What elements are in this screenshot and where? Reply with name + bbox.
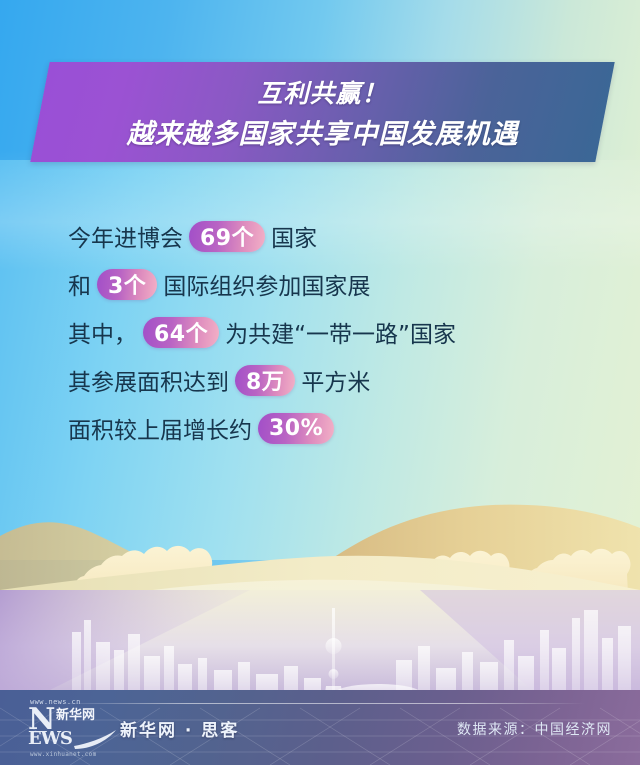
stat-line-5-prefix: 面积较上届增长约 [68,411,252,445]
stat-line-3-prefix: 其中， [68,315,137,349]
stat-line-2-prefix: 和 [68,267,91,301]
footer-bar: www.news.cn N EWS 新华网 www.xinhuanet.com … [0,690,640,765]
stat-pill-countries: 69个 [189,221,265,252]
stat-pill-belt-and-road: 64个 [143,317,219,348]
statistics-text-block: 今年进博会 69个 国家 和 3个 国际组织参加国家展 其中， 64个 为共建“… [68,212,588,452]
stat-line-3-suffix: 为共建“一带一路”国家 [225,315,456,349]
stat-line-3: 其中， 64个 为共建“一带一路”国家 [68,308,588,356]
data-source-label: 数据来源：中国经济网 [457,719,612,739]
xinhua-logo[interactable]: www.news.cn N EWS 新华网 www.xinhuanet.com [28,698,116,758]
logo-url-bottom: www.xinhuanet.com [30,751,97,758]
title-line-2: 越来越多国家共享中国发展机遇 [127,112,519,151]
stat-line-1: 今年进博会 69个 国家 [68,212,588,260]
stat-line-2-suffix: 国际组织参加国家展 [163,267,370,301]
stat-line-4: 其参展面积达到 8万 平方米 [68,356,588,404]
logo-chinese-text: 新华网 [56,709,98,722]
title-banner: 互利共赢！ 越来越多国家共享中国发展机遇 [30,62,614,162]
footer-divider-line [55,703,585,704]
stat-line-1-suffix: 国家 [271,219,317,253]
stat-line-2: 和 3个 国际组织参加国家展 [68,260,588,308]
stat-line-4-suffix: 平方米 [301,363,370,397]
footer-brand-label: 新华网 · 思客 [120,716,239,741]
stat-pill-organizations: 3个 [97,269,157,300]
stat-pill-growth: 30% [258,413,334,444]
stat-pill-area: 8万 [235,365,295,396]
title-line-1: 互利共赢！ [257,74,387,110]
stat-line-5: 面积较上届增长约 30% [68,404,588,452]
stat-line-1-prefix: 今年进博会 [68,219,183,253]
logo-chinese-mark: 新华网 [56,709,98,722]
infographic-poster: 互利共赢！ 越来越多国家共享中国发展机遇 今年进博会 69个 国家 和 3个 国… [0,0,640,765]
stat-line-4-prefix: 其参展面积达到 [68,363,229,397]
logo-letters-ews: EWS [28,730,72,747]
logo-swoosh-icon [72,728,118,750]
